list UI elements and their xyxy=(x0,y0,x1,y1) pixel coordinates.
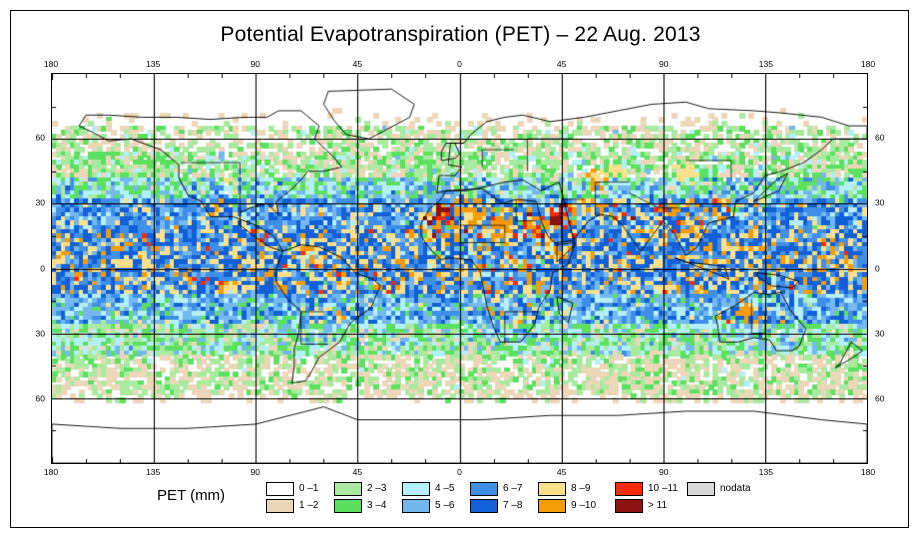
legend-label: 10 –11 xyxy=(648,483,678,494)
legend-color-swatch xyxy=(470,499,498,513)
x-tick-label: 180 xyxy=(861,468,875,477)
legend-label: 8 –9 xyxy=(571,483,590,494)
legend-color-swatch xyxy=(538,482,566,496)
legend-column: 0 –11 –2 xyxy=(266,481,318,515)
page-title: Potential Evapotranspiration (PET) – 22 … xyxy=(11,23,910,47)
y-tick-label: 60 xyxy=(27,134,45,143)
x-tick-label: 90 xyxy=(251,60,260,69)
x-tick-label: 45 xyxy=(557,60,566,69)
y-tick-label: 60 xyxy=(875,134,893,143)
y-tick-label: 30 xyxy=(27,199,45,208)
legend-label: > 11 xyxy=(648,500,667,511)
legend-color-swatch xyxy=(687,482,715,496)
pet-raster-layer xyxy=(52,74,867,463)
legend-entry[interactable]: 5 –6 xyxy=(402,498,454,513)
legend-label: 4 –5 xyxy=(435,483,454,494)
legend-label: 6 –7 xyxy=(503,483,522,494)
legend-label: nodata xyxy=(720,483,751,494)
x-tick-label: 90 xyxy=(659,60,668,69)
legend-label: 1 –2 xyxy=(299,500,318,511)
legend-label: 9 –10 xyxy=(571,500,596,511)
legend-entry[interactable]: 8 –9 xyxy=(538,481,596,496)
legend-column: 8 –99 –10 xyxy=(538,481,596,515)
legend-label: 7 –8 xyxy=(503,500,522,511)
legend-column: nodata xyxy=(687,481,751,498)
y-tick-label: 30 xyxy=(875,199,893,208)
figure-panel: Potential Evapotranspiration (PET) – 22 … xyxy=(10,10,909,528)
x-tick-label: 45 xyxy=(353,468,362,477)
legend-entry[interactable]: 9 –10 xyxy=(538,498,596,513)
x-tick-label: 180 xyxy=(44,60,58,69)
y-tick-label: 0 xyxy=(875,264,893,273)
legend-label: 2 –3 xyxy=(367,483,386,494)
legend-entry[interactable]: 10 –11 xyxy=(615,481,678,496)
x-tick-label: 90 xyxy=(251,468,260,477)
x-tick-label: 135 xyxy=(146,60,160,69)
legend-column: 2 –33 –4 xyxy=(334,481,386,515)
x-tick-label: 45 xyxy=(353,60,362,69)
legend-color-swatch xyxy=(615,482,643,496)
legend-color-swatch xyxy=(402,482,430,496)
y-tick-label: 60 xyxy=(27,394,45,403)
x-tick-label: 0 xyxy=(457,60,462,69)
legend-color-swatch xyxy=(334,499,362,513)
x-tick-label: 135 xyxy=(146,468,160,477)
map-plot-area xyxy=(51,73,868,464)
legend-entry[interactable]: 6 –7 xyxy=(470,481,522,496)
y-tick-label: 30 xyxy=(875,329,893,338)
x-tick-label: 0 xyxy=(457,468,462,477)
legend-entry[interactable]: 2 –3 xyxy=(334,481,386,496)
x-tick-label: 135 xyxy=(759,468,773,477)
legend-color-swatch xyxy=(266,499,294,513)
legend-column: 10 –11> 11 xyxy=(615,481,678,515)
legend-color-swatch xyxy=(334,482,362,496)
legend-label: 3 –4 xyxy=(367,500,386,511)
legend-label: 0 –1 xyxy=(299,483,318,494)
legend: PET (mm) 0 –11 –22 –33 –44 –55 –66 –77 –… xyxy=(11,477,910,521)
x-tick-label: 180 xyxy=(44,468,58,477)
legend-color-swatch xyxy=(470,482,498,496)
y-tick-label: 30 xyxy=(27,329,45,338)
legend-entry[interactable]: nodata xyxy=(687,481,751,496)
legend-entry[interactable]: 1 –2 xyxy=(266,498,318,513)
legend-column: 6 –77 –8 xyxy=(470,481,522,515)
legend-color-swatch xyxy=(538,499,566,513)
legend-label: 5 –6 xyxy=(435,500,454,511)
x-tick-label: 90 xyxy=(659,468,668,477)
legend-color-swatch xyxy=(402,499,430,513)
legend-color-swatch xyxy=(615,499,643,513)
y-tick-label: 60 xyxy=(875,394,893,403)
legend-entry[interactable]: 3 –4 xyxy=(334,498,386,513)
x-tick-label: 180 xyxy=(861,60,875,69)
legend-column: 4 –55 –6 xyxy=(402,481,454,515)
legend-entry[interactable]: 0 –1 xyxy=(266,481,318,496)
x-tick-label: 45 xyxy=(557,468,566,477)
legend-entry[interactable]: 7 –8 xyxy=(470,498,522,513)
legend-title: PET (mm) xyxy=(157,487,225,504)
y-tick-label: 0 xyxy=(27,264,45,273)
legend-entry[interactable]: > 11 xyxy=(615,498,678,513)
legend-color-swatch xyxy=(266,482,294,496)
x-tick-label: 135 xyxy=(759,60,773,69)
legend-entry[interactable]: 4 –5 xyxy=(402,481,454,496)
